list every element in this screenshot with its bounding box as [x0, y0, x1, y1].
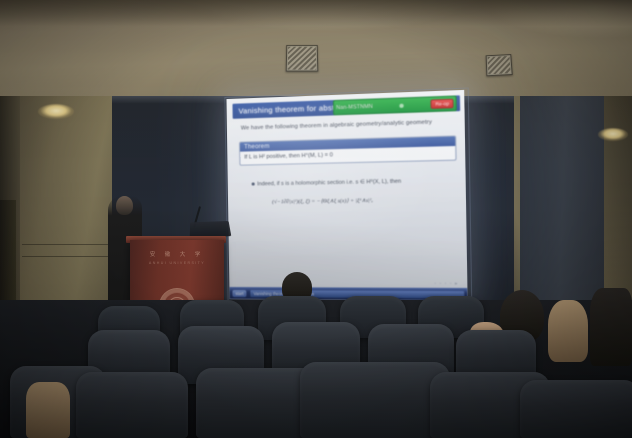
podium-institution-name: 安 徽 大 学	[130, 250, 224, 258]
slide-title-text: Vanishing theorem for abst	[233, 103, 335, 116]
slide-body-line: We have the following theorem in algebra…	[241, 119, 458, 132]
popup-action-button[interactable]: Re-op	[431, 99, 453, 109]
seat	[300, 362, 450, 438]
recessed-light-left	[38, 104, 74, 119]
theorem-box: Theorem If L is H² positive, then H°(M, …	[239, 135, 457, 165]
slide-bullet-item: Indeed, if s is a holomorphic section i.…	[252, 177, 462, 187]
projection-screen[interactable]: Vanishing theorem for abst Nan-MSTNMN Re…	[226, 90, 467, 301]
audience-person	[548, 300, 588, 362]
presenter-head	[116, 196, 133, 215]
recessed-light-right	[598, 128, 628, 141]
start-button[interactable]: start	[232, 290, 246, 297]
ceiling-vent-right	[486, 54, 513, 76]
lecture-hall-photo: Vanishing theorem for abst Nan-MSTNMN Re…	[0, 0, 632, 438]
ceiling-seam	[0, 0, 632, 26]
bullet-dot-icon	[252, 183, 255, 186]
slide-equation: (√−1∂̄∂|s|²)(ξ, ξ̄) = −⟨Θξ∧ξ s(x)⟩ + |ξ¹…	[272, 196, 462, 205]
seat	[76, 372, 188, 438]
popup-status-dot	[400, 103, 404, 107]
popup-message: Nan-MSTNMN	[336, 103, 373, 110]
podium-institution-name-latin: ANHUI UNIVERSITY	[130, 261, 224, 265]
ceiling-vent-left	[286, 45, 319, 72]
presentation-slide: Vanishing theorem for abst Nan-MSTNMN Re…	[226, 90, 467, 301]
bullet-text: Indeed, if s is a holomorphic section i.…	[257, 179, 401, 188]
seat	[520, 380, 632, 438]
notification-popup[interactable]: Nan-MSTNMN Re-op	[333, 95, 457, 115]
audience-person	[590, 288, 632, 366]
audience-person	[26, 382, 70, 438]
